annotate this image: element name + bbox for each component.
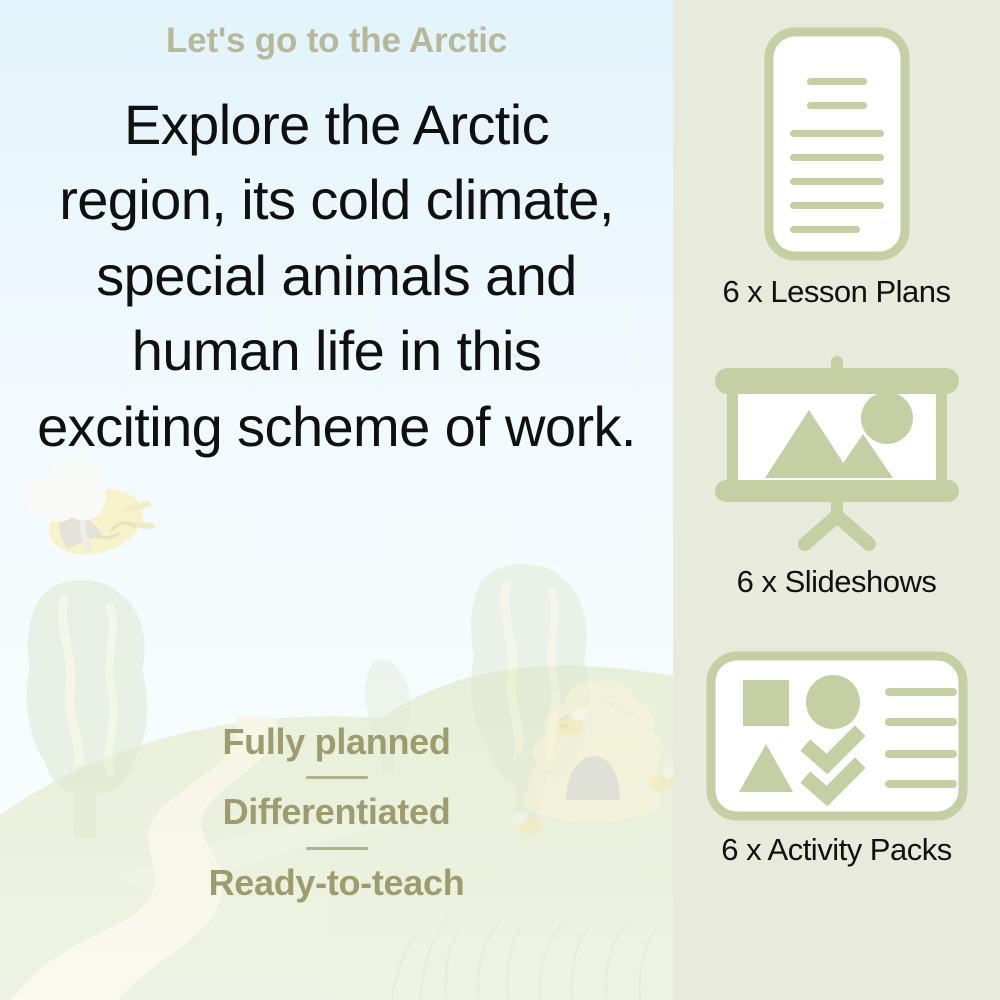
poster-root: Let's go to the Arctic Explore the Arcti… bbox=[0, 0, 1000, 1000]
left-panel: Let's go to the Arctic Explore the Arcti… bbox=[0, 0, 673, 1000]
document-lesson-plan-icon bbox=[761, 24, 913, 264]
feature-label-activity-packs: 6 x Activity Packs bbox=[721, 832, 951, 868]
benefit-item-1: Fully planned bbox=[0, 722, 673, 762]
features-panel: 6 x Lesson Plans bbox=[673, 0, 1000, 1000]
benefit-item-3: Ready-to-teach bbox=[0, 863, 673, 903]
left-content: Let's go to the Arctic Explore the Arcti… bbox=[0, 0, 673, 1000]
feature-activity-packs: 6 x Activity Packs bbox=[673, 650, 1000, 868]
activity-pack-card-icon bbox=[705, 650, 969, 822]
feature-label-slideshows: 6 x Slideshows bbox=[737, 564, 937, 600]
benefit-divider-2 bbox=[306, 847, 368, 850]
headline-description: Explore the Arctic region, its cold clim… bbox=[37, 87, 637, 465]
benefit-item-2: Differentiated bbox=[0, 792, 673, 832]
feature-lesson-plans: 6 x Lesson Plans bbox=[673, 24, 1000, 310]
feature-label-lesson-plans: 6 x Lesson Plans bbox=[722, 274, 950, 310]
benefits-list: Fully planned Differentiated Ready-to-te… bbox=[0, 722, 673, 903]
benefit-divider-1 bbox=[306, 776, 368, 779]
projector-screen-slideshow-icon bbox=[705, 354, 969, 554]
feature-slideshows: 6 x Slideshows bbox=[673, 354, 1000, 600]
kicker-title: Let's go to the Arctic bbox=[166, 22, 507, 61]
